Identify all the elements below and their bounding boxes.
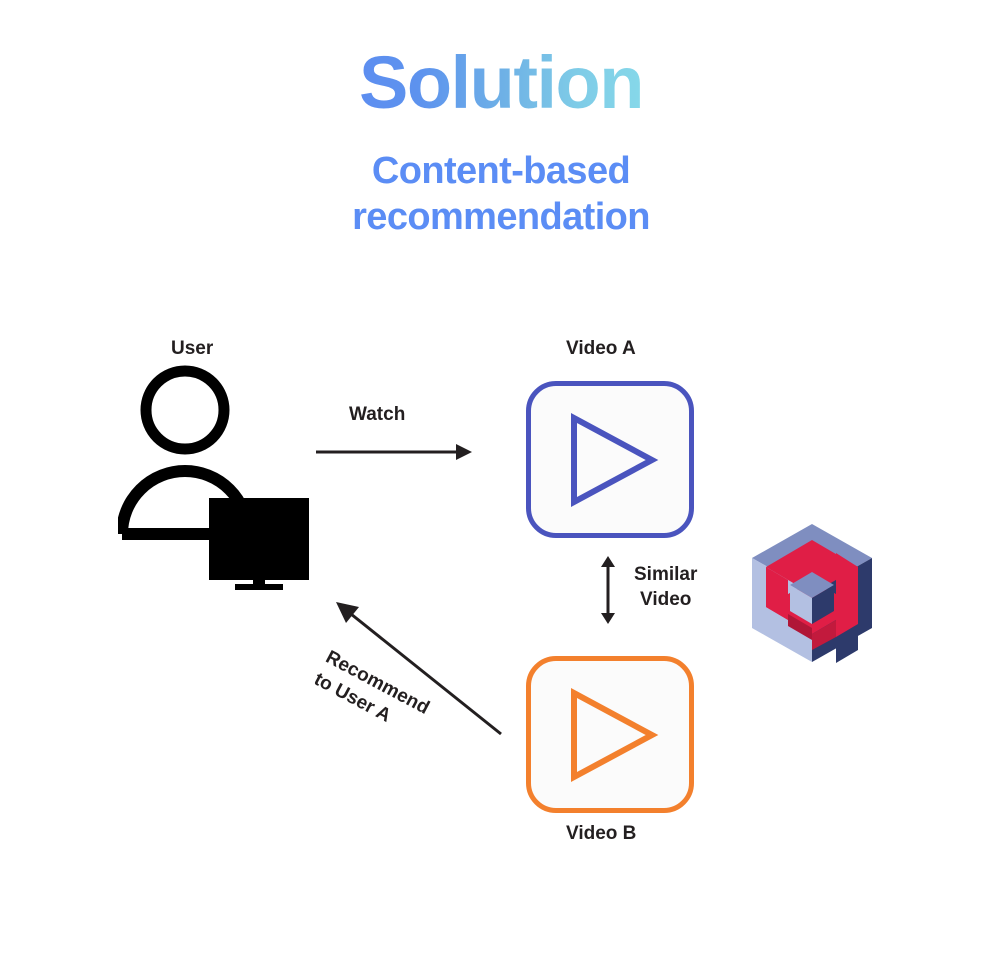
video-a-card[interactable] <box>526 381 694 538</box>
similar-label-line-1: Similar <box>634 562 697 587</box>
isometric-cube-a-logo <box>748 522 876 667</box>
page-subtitle: Content-based recommendation <box>0 148 1002 241</box>
video-b-card[interactable] <box>526 656 694 813</box>
user-with-monitor-icon <box>118 362 318 590</box>
subtitle-line-1: Content-based <box>0 148 1002 194</box>
watch-arrow-icon <box>316 440 474 464</box>
subtitle-line-2: recommendation <box>0 194 1002 240</box>
similar-video-edge-label: Similar Video <box>634 562 697 613</box>
heading-block: Solution Content-based recommendation <box>0 46 1002 241</box>
similar-label-line-2: Video <box>634 587 697 612</box>
video-b-node-label: Video B <box>566 823 636 845</box>
similar-video-double-arrow-icon <box>596 556 620 624</box>
play-triangle-icon[interactable] <box>560 412 660 508</box>
page-title: Solution <box>359 46 643 120</box>
video-a-node-label: Video A <box>566 338 636 360</box>
user-node-label: User <box>171 338 213 360</box>
watch-edge-label: Watch <box>349 404 405 426</box>
play-triangle-icon[interactable] <box>560 687 660 783</box>
